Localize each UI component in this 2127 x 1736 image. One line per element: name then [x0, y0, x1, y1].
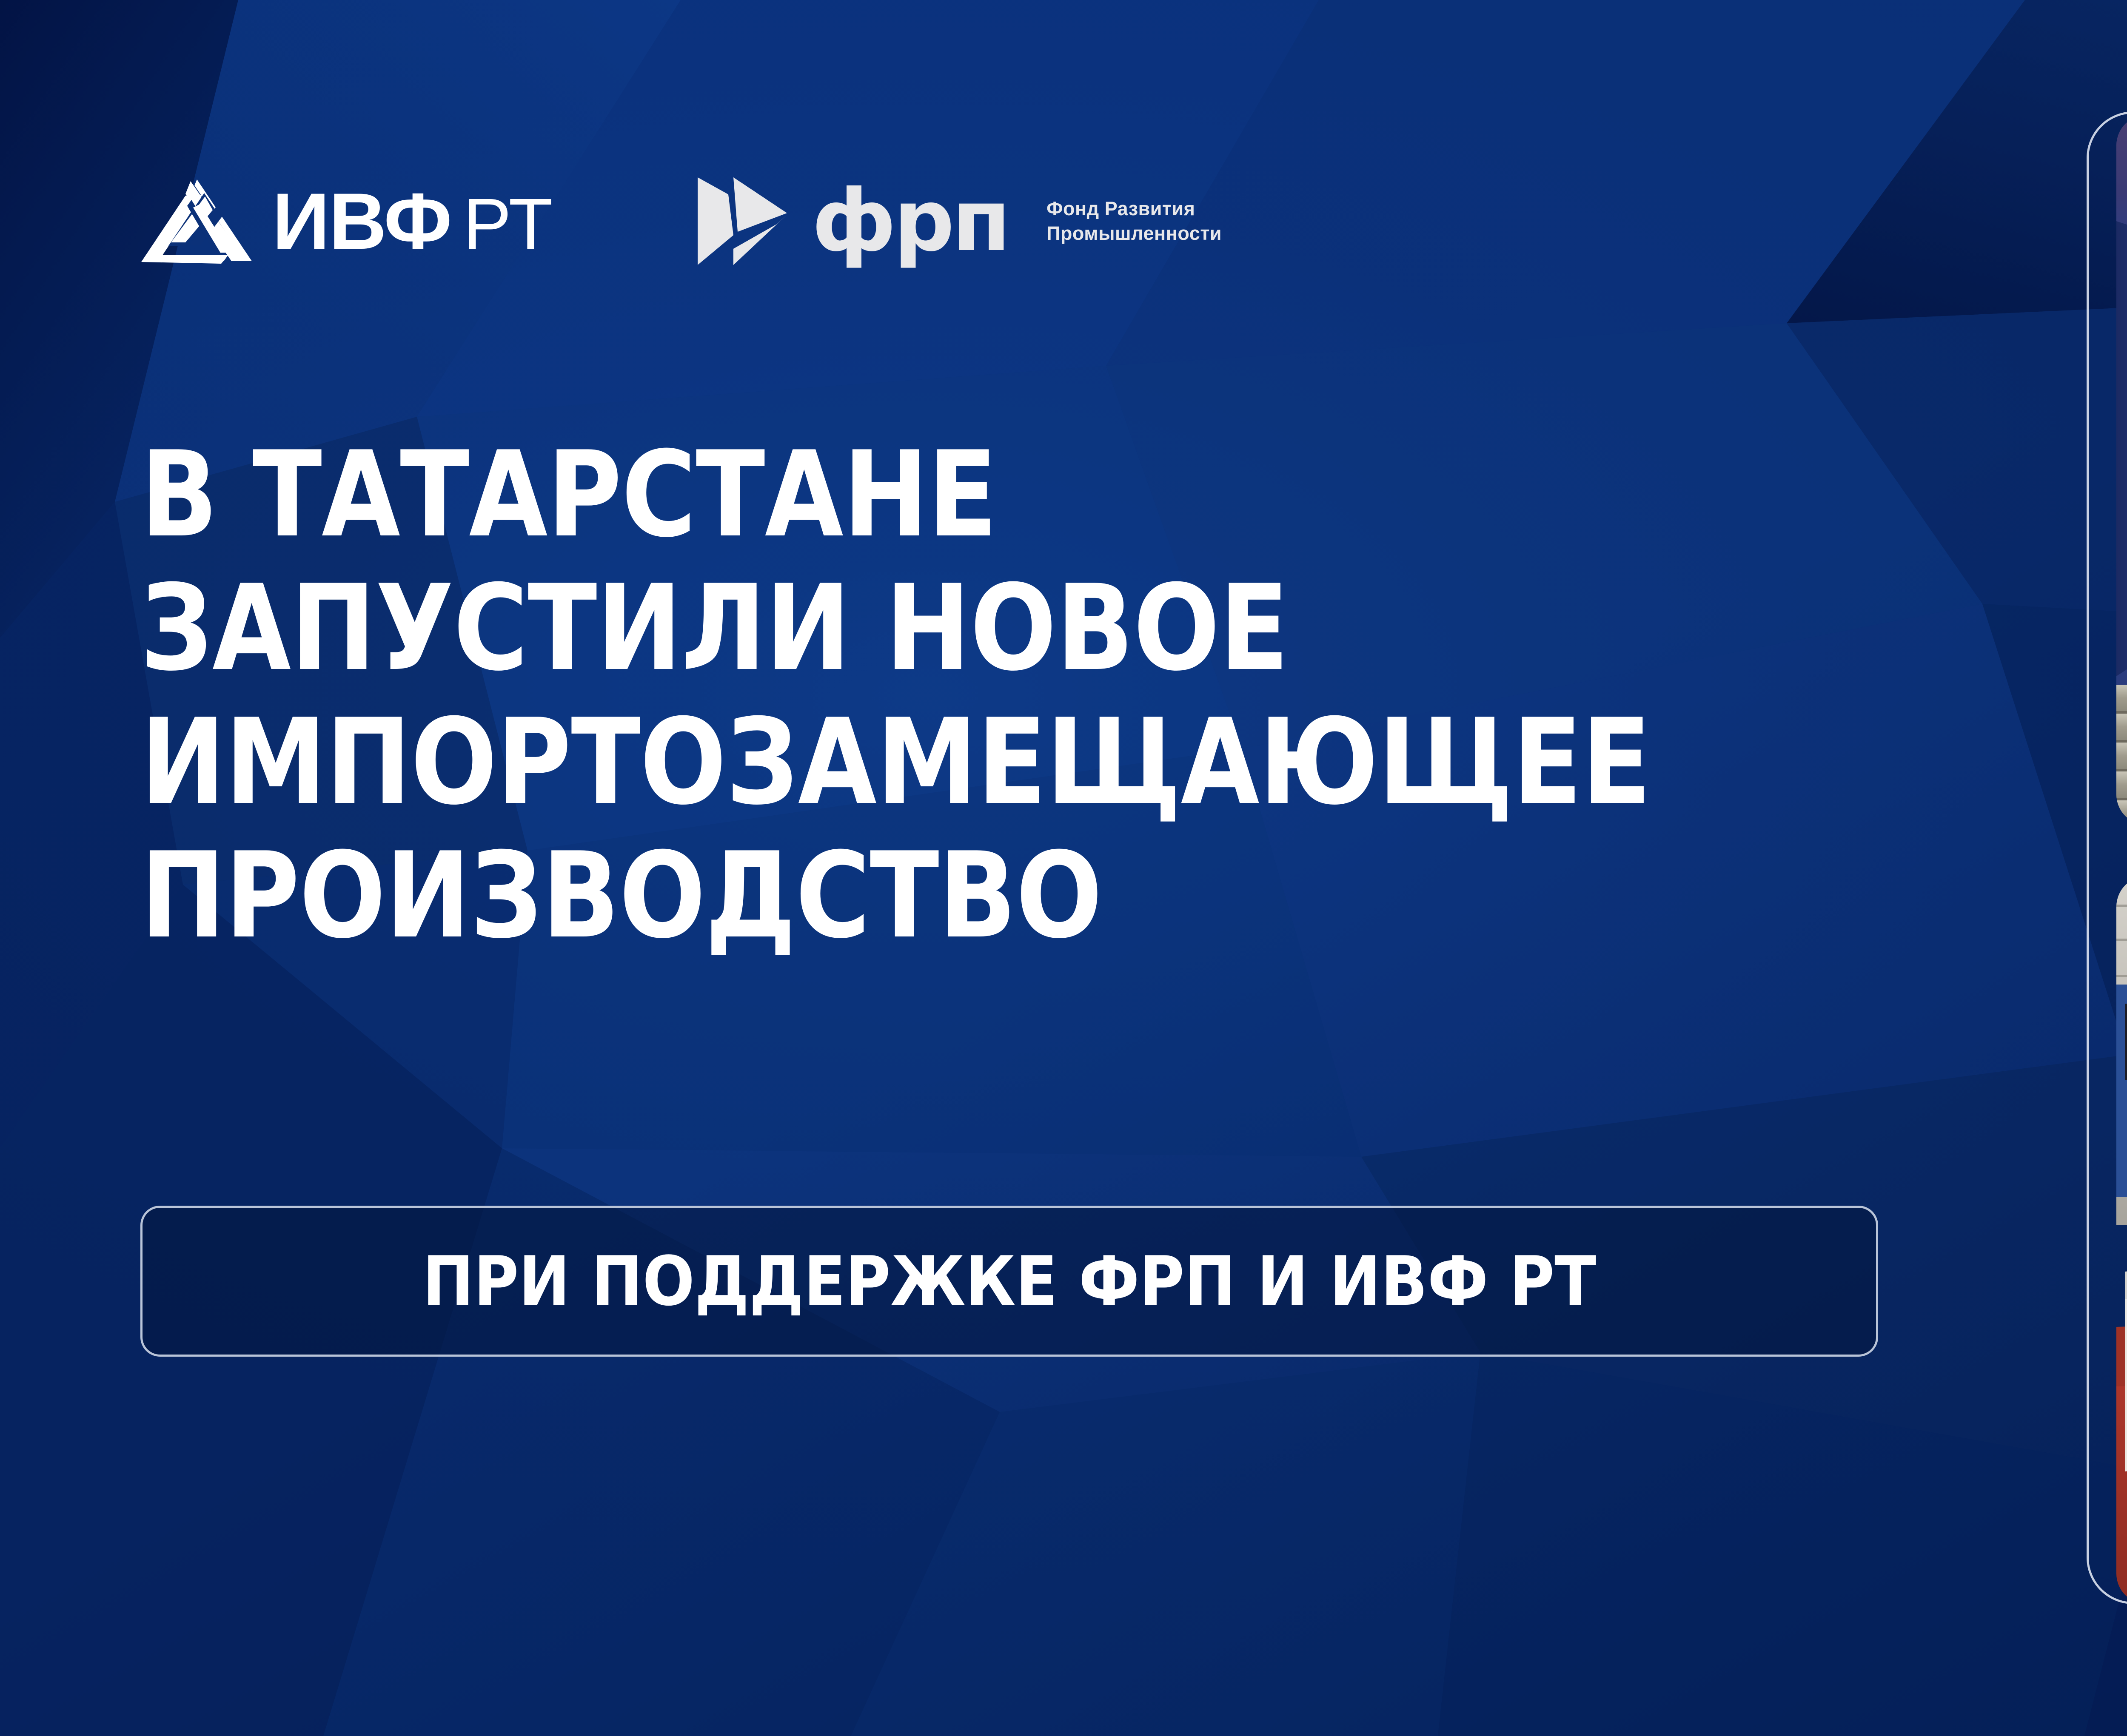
frp-logo: фрп Фонд Развития Промышленности: [686, 172, 1222, 270]
headline-line-2: ЗАПУСТИЛИ НОВОЕ: [140, 567, 1750, 689]
logo-bar: ИВФ РТ фрп Фонд Развития Промышленности: [140, 172, 1222, 270]
ivf-rt-logo: ИВФ РТ: [140, 178, 553, 265]
headline-line-4: ПРОИЗВОДСТВО: [140, 835, 1750, 956]
frp-tagline: Фонд Развития Промышленности: [1046, 196, 1222, 245]
frp-wordmark: фрп: [812, 179, 1008, 264]
ivf-word-main: ИВФ: [272, 181, 451, 261]
photo-battery-on-conveyor: ГАРАНТИЯ 36 МЕСЯЦЕВ ЕВРО полярность: [2116, 115, 2127, 825]
poster-root: ИВФ РТ фрп Фонд Развития Промышленности …: [0, 0, 2127, 1736]
support-badge-label: ПРИ ПОДДЕРЖКЕ ФРП И ИВФ РТ: [422, 1247, 1596, 1315]
photo-factory-line: FORWARD: [2116, 876, 2127, 1604]
page-title: В ТАТАРСТАНЕ ЗАПУСТИЛИ НОВОЕ ИМПОРТОЗАМЕ…: [140, 434, 2012, 968]
headline-line-1: В ТАТАРСТАНЕ: [140, 434, 1750, 555]
photo-top-image: ГАРАНТИЯ 36 МЕСЯЦЕВ ЕВРО полярность: [2116, 115, 2127, 825]
support-badge: ПРИ ПОДДЕРЖКЕ ФРП И ИВФ РТ: [140, 1206, 1878, 1357]
ivf-triangle-mark: [140, 178, 255, 265]
ivf-wordmark: ИВФ РТ: [272, 181, 553, 261]
frp-arrow-mark: [686, 172, 792, 270]
photo-stack: ГАРАНТИЯ 36 МЕСЯЦЕВ ЕВРО полярность: [2116, 115, 2127, 1603]
ivf-word-sub: РТ: [463, 188, 553, 260]
photo-bottom-image: FORWARD: [2116, 876, 2127, 1604]
headline-line-3: ИМПОРТОЗАМЕЩАЮЩЕЕ: [140, 701, 1750, 823]
